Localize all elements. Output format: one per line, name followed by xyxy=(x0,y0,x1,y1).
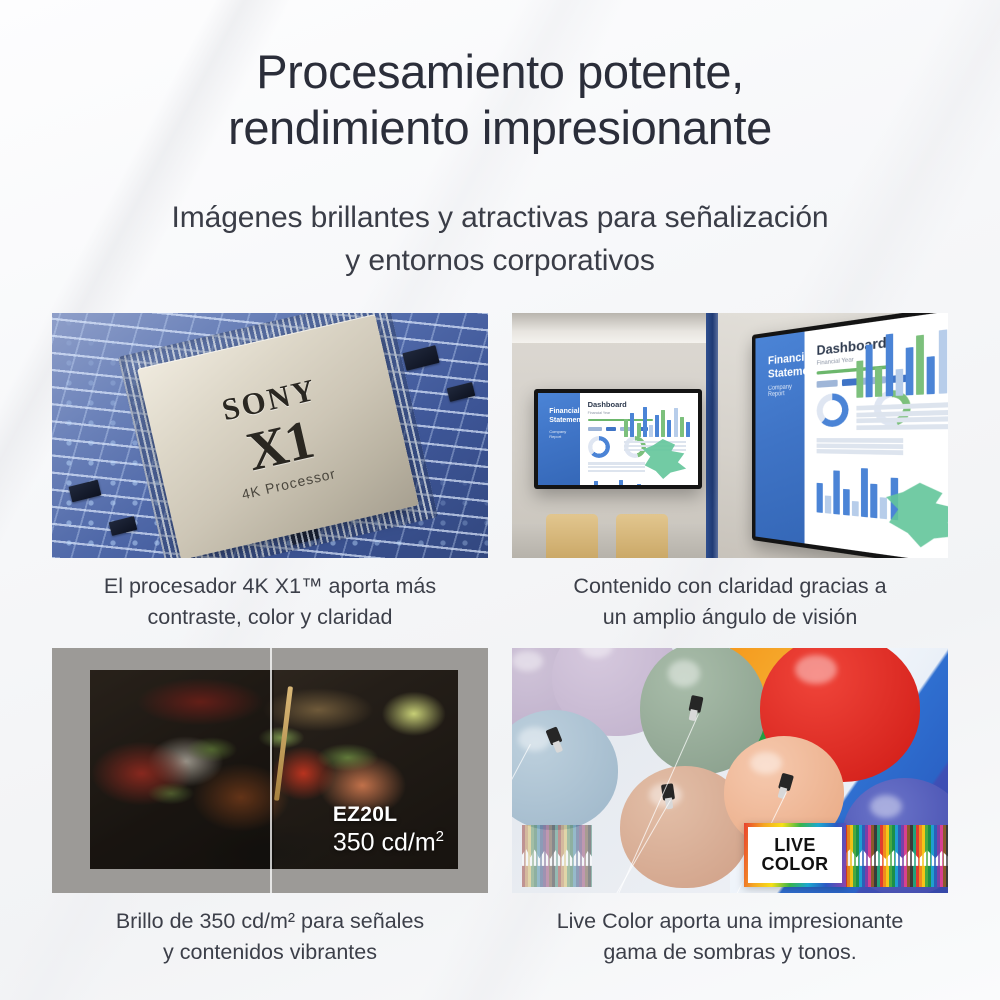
processor-caption: El procesador 4K X1™ aporta más contrast… xyxy=(52,571,488,633)
chair xyxy=(546,514,598,558)
balloons-scene: LIVE COLOR xyxy=(512,648,948,893)
color-pencils-strip-muted xyxy=(522,825,592,887)
chair xyxy=(616,514,668,558)
feature-card-brightness: EZ20L 350 cd/m2 Brillo de 350 cd/m² para… xyxy=(52,648,488,893)
signage-caption: Contenido con claridad gracias a un ampl… xyxy=(512,571,948,633)
feature-card-livecolor: LIVE COLOR Live Color aporta una impresi… xyxy=(512,648,948,893)
dashboard-donut-chart xyxy=(588,436,610,458)
dashboard-main: Dashboard Financial Year xyxy=(805,313,948,558)
panel-split-line xyxy=(270,648,272,893)
dashboard-table xyxy=(588,462,645,472)
badge-line-1: LIVE xyxy=(774,836,816,855)
headline-line-1: Procesamiento potente, xyxy=(0,44,1000,100)
dim-half-overlay xyxy=(90,670,274,869)
livecolor-caption: Live Color aporta una impresionante gama… xyxy=(512,906,948,968)
room-floor xyxy=(512,524,708,558)
dashboard-main: Dashboard Financial Year xyxy=(580,393,698,485)
dashboard-sidebar-title: Financial Statements xyxy=(549,407,571,425)
dashboard-sidebar: Financial Statements Company Report xyxy=(755,332,804,544)
display-front-view: Financial Statements Company Report Dash… xyxy=(534,389,702,489)
dashboard-content: Financial Statements Company Report Dash… xyxy=(538,393,698,485)
caption-line-2: gama de sombras y tonos. xyxy=(512,937,948,968)
caption-line-2: contraste, color y claridad xyxy=(52,602,488,633)
brightness-spec-label: 350 cd/m2 xyxy=(333,828,444,857)
headline-line-2: rendimiento impresionante xyxy=(0,100,1000,156)
room-pillar xyxy=(706,313,718,558)
caption-line-1: Live Color aporta una impresionante xyxy=(512,906,948,937)
processor-image: SONY X1 4K Processor xyxy=(52,313,488,558)
caption-line-2: un amplio ángulo de visión xyxy=(512,602,948,633)
display-screen: Financial Statements Company Report Dash… xyxy=(755,313,948,558)
room-ceiling xyxy=(512,313,708,343)
dashboard-sidebar-subtitle: Company Report xyxy=(768,384,795,398)
brightness-caption: Brillo de 350 cd/m² para señales y conte… xyxy=(52,906,488,968)
dashboard-table xyxy=(817,438,904,454)
dashboard-sidebar-title: Financial Statements xyxy=(768,352,795,382)
feature-card-processor: SONY X1 4K Processor El procesador 4K X1… xyxy=(52,313,488,558)
badge-line-2: COLOR xyxy=(762,855,829,874)
display-angled-view: Financial Statements Company Report Dash… xyxy=(752,313,948,558)
dashboard-sidebar: Financial Statements Company Report xyxy=(538,393,580,485)
dashboard-donut-chart xyxy=(817,393,849,428)
meeting-room-scene: Financial Statements Company Report Dash… xyxy=(512,313,948,558)
feature-card-signage: Financial Statements Company Report Dash… xyxy=(512,313,948,558)
page-subheadline: Imágenes brillantes y atractivas para se… xyxy=(0,196,1000,282)
color-pencils-strip-vivid xyxy=(844,825,948,887)
caption-line-1: El procesador 4K X1™ aporta más xyxy=(52,571,488,602)
live-color-badge: LIVE COLOR xyxy=(744,823,846,887)
subheadline-line-2: y entornos corporativos xyxy=(0,239,1000,282)
promo-page: Procesamiento potente, rendimiento impre… xyxy=(0,0,1000,1000)
signage-image: Financial Statements Company Report Dash… xyxy=(512,313,948,558)
subheadline-line-1: Imágenes brillantes y atractivas para se… xyxy=(0,196,1000,239)
dashboard-bar-chart xyxy=(588,477,690,485)
dashboard-sidebar-subtitle: Company Report xyxy=(549,429,571,439)
processor-chip: SONY X1 4K Processor xyxy=(137,314,419,558)
dashboard-table xyxy=(856,401,948,429)
model-label: EZ20L xyxy=(333,803,444,827)
dashboard-bar-chart xyxy=(856,321,948,398)
page-headline: Procesamiento potente, rendimiento impre… xyxy=(0,44,1000,156)
dashboard-bar-chart xyxy=(624,403,690,437)
caption-line-2: y contenidos vibrantes xyxy=(52,937,488,968)
livecolor-image: LIVE COLOR xyxy=(512,648,948,893)
dashboard-content: Financial Statements Company Report Dash… xyxy=(755,313,948,558)
caption-line-1: Contenido con claridad gracias a xyxy=(512,571,948,602)
brightness-overlay-label: EZ20L 350 cd/m2 xyxy=(333,803,444,857)
display-screen: Financial Statements Company Report Dash… xyxy=(538,393,698,485)
brightness-image: EZ20L 350 cd/m2 xyxy=(52,648,488,893)
video-wall-panel: EZ20L 350 cd/m2 xyxy=(90,670,458,869)
caption-line-1: Brillo de 350 cd/m² para señales xyxy=(52,906,488,937)
